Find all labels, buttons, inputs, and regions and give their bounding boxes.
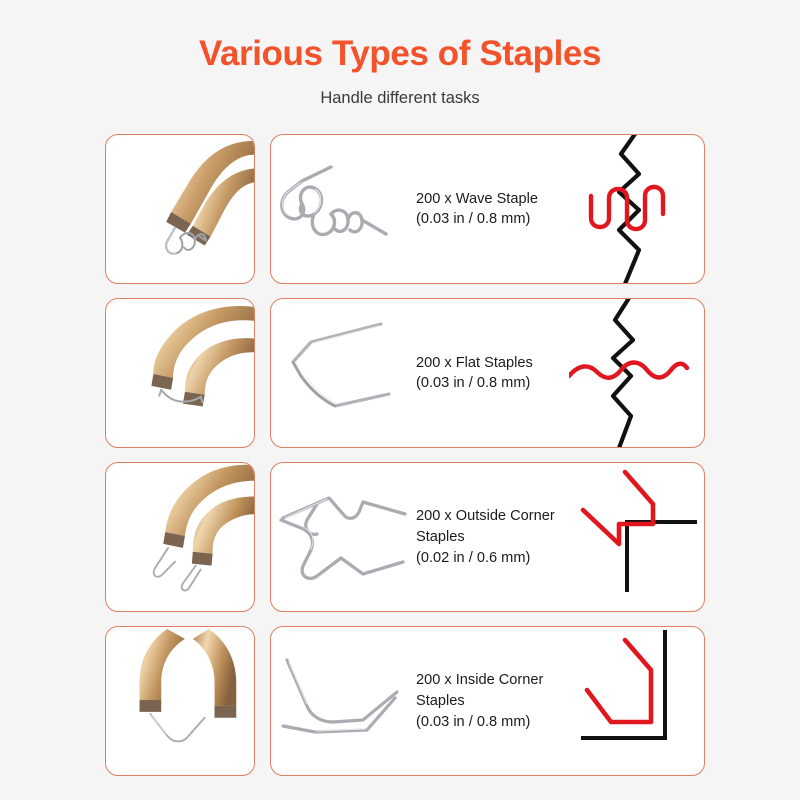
page-title: Various Types of Staples (0, 34, 800, 74)
label-line-2: (0.03 in / 0.8 mm) (416, 373, 565, 394)
label-line-2: Staples (416, 691, 565, 712)
copper-tips-with-inside-corner-staple-photo (105, 626, 255, 776)
label-line-1: 200 x Flat Staples (416, 353, 565, 374)
inside-corner-staple-label: 200 x Inside Corner Staples (0.03 in / 0… (416, 670, 569, 732)
flat-staple-photo-svg (271, 298, 416, 448)
staple-row: 200 x Wave Staple (0.03 in / 0.8 mm) (0, 134, 800, 284)
outside-corner-staple-photo (271, 462, 416, 612)
copper-tips-with-outside-corner-staple-photo (105, 462, 255, 612)
staple-rows: 200 x Wave Staple (0.03 in / 0.8 mm) (0, 134, 800, 776)
label-line-3: (0.02 in / 0.6 mm) (416, 548, 565, 569)
outside-corner-diagram-svg (569, 462, 704, 612)
inside-corner-diagram-svg (569, 626, 704, 776)
staple-row: 200 x Flat Staples (0.03 in / 0.8 mm) (0, 298, 800, 448)
label-line-2: Staples (416, 527, 565, 548)
flat-crack-diagram-svg (569, 298, 704, 448)
flat-staple-label: 200 x Flat Staples (0.03 in / 0.8 mm) (416, 353, 569, 394)
outside-corner-staple-photo-svg (271, 462, 416, 612)
header: Various Types of Staples Handle differen… (0, 0, 800, 108)
wave-staple-over-crack-diagram (569, 134, 704, 284)
page-subtitle: Handle different tasks (0, 89, 800, 108)
wave-staple-photo (271, 134, 416, 284)
wave-staple-label: 200 x Wave Staple (0.03 in / 0.8 mm) (416, 189, 569, 230)
inside-corner-staple-diagram (569, 626, 704, 776)
copper-tips-photo-svg (106, 135, 254, 283)
wave-staple-info-card: 200 x Wave Staple (0.03 in / 0.8 mm) (270, 134, 705, 284)
copper-tips-with-wave-staple-photo (105, 134, 255, 284)
copper-tips-photo-svg (106, 299, 254, 447)
outside-corner-staple-label: 200 x Outside Corner Staples (0.02 in / … (416, 506, 569, 568)
copper-tips-photo-svg (106, 627, 254, 775)
label-line-2: (0.03 in / 0.8 mm) (416, 209, 565, 230)
wave-staple-photo-svg (271, 134, 416, 284)
flat-staple-over-crack-diagram (569, 298, 704, 448)
infographic-page: Various Types of Staples Handle differen… (0, 0, 800, 800)
flat-staple-info-card: 200 x Flat Staples (0.03 in / 0.8 mm) (270, 298, 705, 448)
outside-corner-staple-info-card: 200 x Outside Corner Staples (0.02 in / … (270, 462, 705, 612)
inside-corner-staple-info-card: 200 x Inside Corner Staples (0.03 in / 0… (270, 626, 705, 776)
inside-corner-staple-photo (271, 626, 416, 776)
copper-tips-with-flat-staple-photo (105, 298, 255, 448)
label-line-1: 200 x Wave Staple (416, 189, 565, 210)
label-line-1: 200 x Inside Corner (416, 670, 565, 691)
label-line-3: (0.03 in / 0.8 mm) (416, 712, 565, 733)
flat-staple-photo (271, 298, 416, 448)
label-line-1: 200 x Outside Corner (416, 506, 565, 527)
copper-tips-photo-svg (106, 463, 254, 611)
wave-crack-diagram-svg (569, 134, 704, 284)
staple-row: 200 x Outside Corner Staples (0.02 in / … (0, 462, 800, 612)
inside-corner-staple-photo-svg (271, 626, 416, 776)
staple-row: 200 x Inside Corner Staples (0.03 in / 0… (0, 626, 800, 776)
outside-corner-staple-diagram (569, 462, 704, 612)
